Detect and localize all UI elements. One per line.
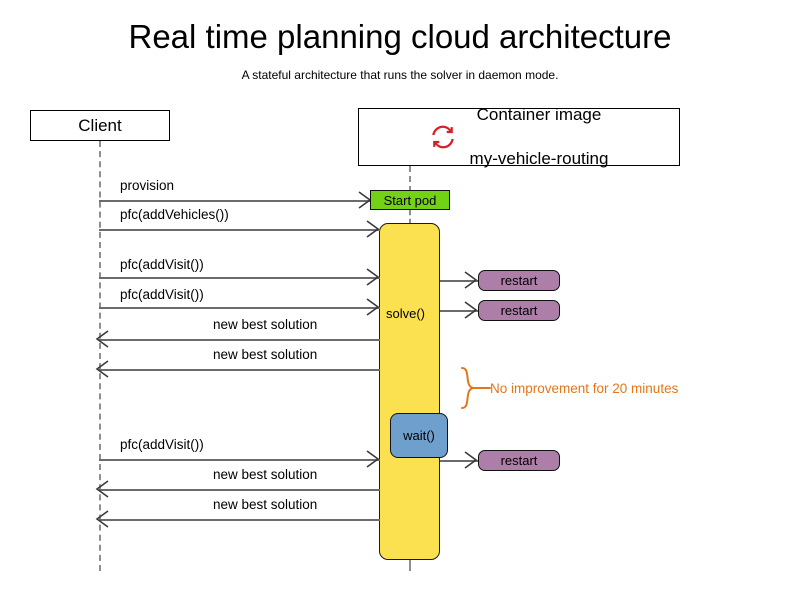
arrow-head-right-restart-3	[464, 451, 478, 469]
message-line-add-visit-1	[99, 277, 380, 279]
lifeline-container-lower	[409, 559, 411, 571]
arrow-head-right-restart-1	[464, 271, 478, 289]
message-line-add-visit-3	[99, 459, 380, 461]
lifeline-client	[99, 141, 101, 571]
node-restart-3-label: restart	[501, 453, 538, 468]
message-label-add-visit-3: pfc(addVisit())	[120, 437, 204, 452]
node-wait-label: wait()	[403, 428, 435, 443]
participant-client-label: Client	[78, 116, 121, 136]
message-line-provision	[99, 200, 371, 202]
node-start-pod[interactable]: Start pod	[370, 190, 450, 210]
node-restart-2[interactable]: restart	[478, 300, 560, 321]
arrow-head-left-new-best-solution-2	[95, 360, 109, 378]
node-restart-1[interactable]: restart	[478, 270, 560, 291]
annotation-brace-icon	[458, 366, 492, 410]
node-start-pod-label: Start pod	[384, 193, 437, 208]
message-label-add-vehicles: pfc(addVehicles())	[120, 207, 229, 222]
arrow-head-right-add-vehicles	[366, 220, 380, 238]
message-line-new-best-solution-4	[99, 519, 380, 521]
participant-client[interactable]: Client	[30, 110, 170, 141]
lifeline-container-upper	[409, 166, 411, 192]
page-subtitle: A stateful architecture that runs the so…	[0, 68, 800, 82]
message-label-add-visit-2: pfc(addVisit())	[120, 287, 204, 302]
node-restart-1-label: restart	[501, 273, 538, 288]
message-label-add-visit-1: pfc(addVisit())	[120, 257, 204, 272]
sync-icon	[430, 124, 456, 150]
participant-container-label: Container image my-vehicle-routing	[470, 83, 609, 192]
message-label-new-best-solution-4: new best solution	[213, 497, 317, 512]
node-restart-3[interactable]: restart	[478, 450, 560, 471]
message-label-new-best-solution-2: new best solution	[213, 347, 317, 362]
message-line-new-best-solution-1	[99, 339, 380, 341]
sequence-diagram-canvas: Real time planning cloud architecture A …	[0, 0, 800, 600]
message-line-new-best-solution-2	[99, 369, 380, 371]
arrow-head-left-new-best-solution-4	[95, 510, 109, 528]
message-label-provision: provision	[120, 178, 174, 193]
container-image-line1: Container image	[470, 104, 609, 126]
arrow-head-right-add-visit-3	[366, 450, 380, 468]
participant-container-image[interactable]: Container image my-vehicle-routing	[358, 108, 680, 166]
arrow-head-right-restart-2	[464, 301, 478, 319]
node-restart-2-label: restart	[501, 303, 538, 318]
lifeline-container-segment	[409, 210, 411, 224]
activation-bar-solve	[379, 223, 440, 560]
annotation-no-improvement-label: No improvement for 20 minutes	[490, 381, 678, 396]
message-label-new-best-solution-3: new best solution	[213, 467, 317, 482]
arrow-head-right-add-visit-2	[366, 298, 380, 316]
message-label-new-best-solution-1: new best solution	[213, 317, 317, 332]
node-wait[interactable]: wait()	[390, 413, 448, 458]
message-line-add-visit-2	[99, 307, 380, 309]
arrow-head-left-new-best-solution-1	[95, 330, 109, 348]
arrow-head-right-add-visit-1	[366, 268, 380, 286]
page-title: Real time planning cloud architecture	[0, 18, 800, 56]
message-line-new-best-solution-3	[99, 489, 380, 491]
activation-bar-label: solve()	[386, 306, 425, 321]
container-image-line2: my-vehicle-routing	[470, 148, 609, 170]
arrow-head-left-new-best-solution-3	[95, 480, 109, 498]
message-line-add-vehicles	[99, 229, 380, 231]
